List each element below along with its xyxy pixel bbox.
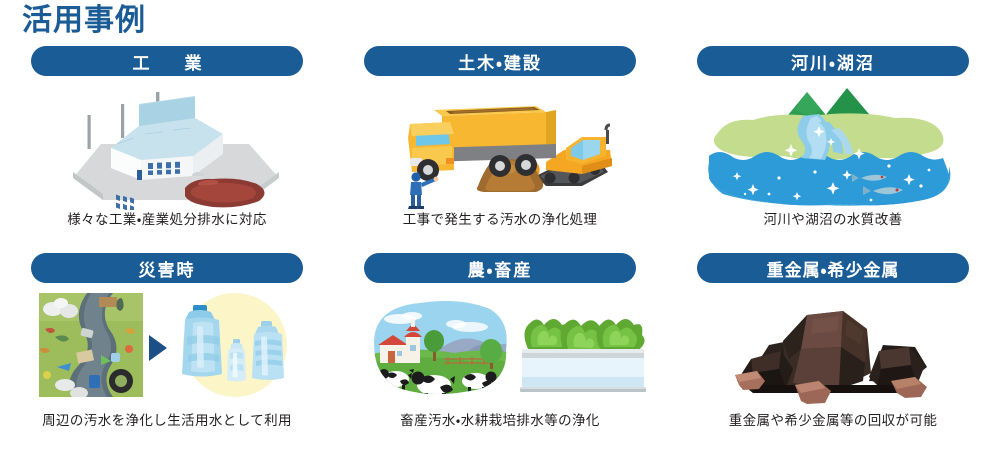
card-caption-civil-engineering: 工事で発生する汚水の浄化処理 (403, 212, 598, 228)
card-label-river-lake: 河川・湖沼 (697, 46, 969, 76)
construction-site-illustration (350, 82, 650, 210)
use-case-card-industry[interactable]: 工 業 (1, 46, 334, 253)
card-caption-river-lake: 河川や湖沼の水質改善 (764, 212, 903, 228)
page-title: 活用事例 (22, 4, 146, 39)
use-case-card-civil-engineering[interactable]: 土木・建設 (334, 46, 667, 253)
factory-wastewater-illustration (17, 82, 317, 210)
card-label-civil-engineering: 土木・建設 (364, 46, 636, 76)
card-caption-industry: 様々な工業・産業処分排水に対応 (67, 212, 267, 228)
card-caption-disaster: 周辺の汚水を浄化し生活用水として利用 (42, 413, 292, 429)
card-label-industry: 工 業 (31, 46, 303, 76)
use-case-card-heavy-rare-metals[interactable]: 重金属・希少金属 (667, 253, 1000, 458)
farm-hydroponics-illustration (350, 289, 650, 407)
ore-rocks-illustration (683, 289, 983, 407)
card-label-disaster: 災害時 (31, 253, 303, 283)
use-case-card-agriculture-livestock[interactable]: 農・畜産 (334, 253, 667, 458)
river-lake-illustration (683, 82, 983, 210)
use-case-card-disaster[interactable]: 災害時 (1, 253, 334, 458)
disaster-water-purification-illustration (17, 289, 317, 407)
card-caption-heavy-rare-metals: 重金属や希少金属等の回収が可能 (729, 413, 938, 429)
use-case-card-river-lake[interactable]: 河川・湖沼 (667, 46, 1000, 253)
use-case-grid: 工 業 (0, 46, 1000, 458)
card-label-agriculture-livestock: 農・畜産 (364, 253, 636, 283)
use-cases-infographic: 活用事例 工 業 (0, 0, 1000, 457)
card-label-heavy-rare-metals: 重金属・希少金属 (697, 253, 969, 283)
card-caption-agriculture-livestock: 畜産汚水・水耕栽培排水等の浄化 (400, 413, 600, 429)
